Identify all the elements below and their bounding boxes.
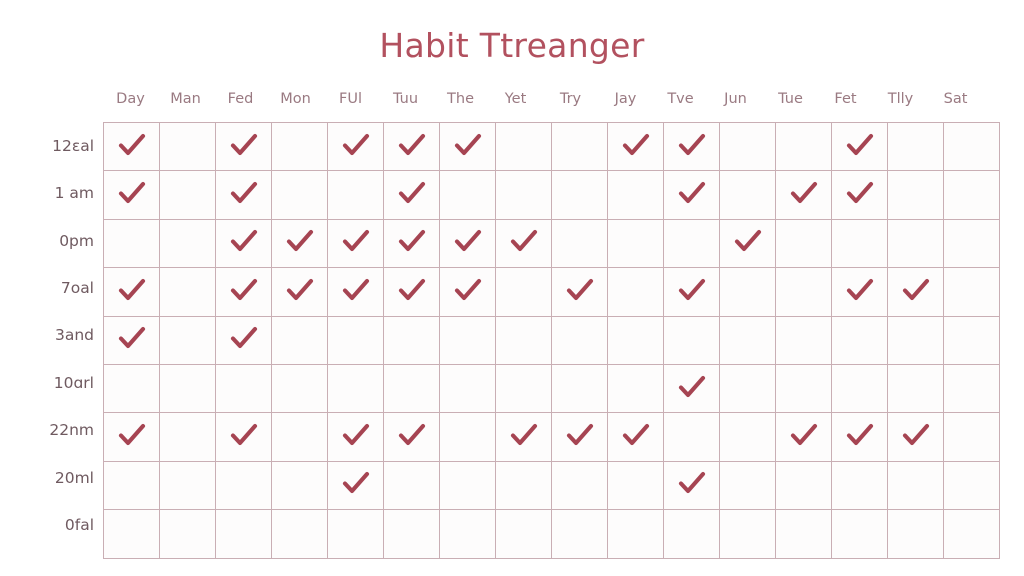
checkmark-icon xyxy=(621,132,651,158)
checkmark-icon xyxy=(117,132,147,158)
habit-cell-r7-c12[interactable] xyxy=(720,413,776,461)
checkmark-icon xyxy=(229,277,259,303)
checkmark-icon xyxy=(229,180,259,206)
habit-cell-r7-c9[interactable] xyxy=(552,413,608,461)
checkmark-icon xyxy=(733,228,763,254)
habit-cell-r7-c7[interactable] xyxy=(440,413,496,461)
habit-cell-r4-c15[interactable] xyxy=(888,268,944,316)
habit-cell-r4-c8[interactable] xyxy=(496,268,552,316)
habit-cell-r3-c7[interactable] xyxy=(440,219,496,267)
habit-cell-r3-c4[interactable] xyxy=(272,219,328,267)
habit-cell-r8-c3[interactable] xyxy=(216,461,272,509)
checkmark-icon xyxy=(901,277,931,303)
habit-cell-r8-c12[interactable] xyxy=(720,461,776,509)
checkmark-icon xyxy=(229,422,259,448)
habit-cell-r9-c11[interactable] xyxy=(664,510,720,558)
column-header-11: Tve xyxy=(653,90,708,108)
habit-cell-r8-c2[interactable] xyxy=(160,461,216,509)
habit-cell-r2-c1[interactable] xyxy=(104,171,160,219)
habit-cell-r8-c5[interactable] xyxy=(328,461,384,509)
checkmark-icon xyxy=(845,277,875,303)
checkmark-icon xyxy=(565,277,595,303)
checkmark-icon xyxy=(229,325,259,351)
checkmark-icon xyxy=(117,180,147,206)
habit-cell-r3-c13[interactable] xyxy=(776,219,832,267)
habit-cell-r9-c1[interactable] xyxy=(104,510,160,558)
habit-cell-r9-c12[interactable] xyxy=(720,510,776,558)
habit-cell-r1-c12[interactable] xyxy=(720,123,776,171)
habit-cell-r1-c9[interactable] xyxy=(552,123,608,171)
habit-cell-r9-c9[interactable] xyxy=(552,510,608,558)
habit-cell-r9-c7[interactable] xyxy=(440,510,496,558)
checkmark-icon xyxy=(397,228,427,254)
habit-cell-r3-c1[interactable] xyxy=(104,219,160,267)
habit-cell-r2-c3[interactable] xyxy=(216,171,272,219)
habit-cell-r5-c14[interactable] xyxy=(832,316,888,364)
habit-cell-r6-c12[interactable] xyxy=(720,364,776,412)
habit-cell-r3-c12[interactable] xyxy=(720,219,776,267)
column-header-3: Fed xyxy=(213,90,268,108)
habit-grid-body xyxy=(104,123,1000,559)
habit-row xyxy=(104,123,1000,171)
row-header-7: 22nm xyxy=(8,418,94,442)
habit-cell-r6-c6[interactable] xyxy=(384,364,440,412)
column-header-14: Fet xyxy=(818,90,873,108)
habit-cell-r6-c16[interactable] xyxy=(944,364,1000,412)
habit-cell-r9-c14[interactable] xyxy=(832,510,888,558)
checkmark-icon xyxy=(341,132,371,158)
habit-cell-r5-c9[interactable] xyxy=(552,316,608,364)
checkmark-icon xyxy=(285,277,315,303)
habit-row xyxy=(104,364,1000,412)
habit-cell-r1-c7[interactable] xyxy=(440,123,496,171)
checkmark-icon xyxy=(453,132,483,158)
habit-cell-r1-c16[interactable] xyxy=(944,123,1000,171)
habit-cell-r6-c8[interactable] xyxy=(496,364,552,412)
column-header-8: Yet xyxy=(488,90,543,108)
habit-cell-r8-c13[interactable] xyxy=(776,461,832,509)
habit-cell-r6-c2[interactable] xyxy=(160,364,216,412)
checkmark-icon xyxy=(677,277,707,303)
habit-cell-r2-c8[interactable] xyxy=(496,171,552,219)
habit-cell-r2-c11[interactable] xyxy=(664,171,720,219)
habit-cell-r8-c1[interactable] xyxy=(104,461,160,509)
habit-cell-r5-c8[interactable] xyxy=(496,316,552,364)
row-header-1: 12ɛal xyxy=(8,134,94,158)
habit-cell-r4-c10[interactable] xyxy=(608,268,664,316)
checkmark-icon xyxy=(341,470,371,496)
checkmark-icon xyxy=(341,228,371,254)
checkmark-icon xyxy=(845,422,875,448)
checkmark-icon xyxy=(397,180,427,206)
checkmark-icon xyxy=(285,228,315,254)
checkmark-icon xyxy=(677,374,707,400)
habit-cell-r3-c8[interactable] xyxy=(496,219,552,267)
habit-cell-r9-c2[interactable] xyxy=(160,510,216,558)
habit-cell-r3-c14[interactable] xyxy=(832,219,888,267)
habit-cell-r4-c13[interactable] xyxy=(776,268,832,316)
habit-cell-r2-c7[interactable] xyxy=(440,171,496,219)
habit-cell-r1-c11[interactable] xyxy=(664,123,720,171)
column-header-9: Try xyxy=(543,90,598,108)
habit-cell-r3-c6[interactable] xyxy=(384,219,440,267)
checkmark-icon xyxy=(677,180,707,206)
checkmark-icon xyxy=(341,277,371,303)
habit-cell-r8-c7[interactable] xyxy=(440,461,496,509)
habit-cell-r3-c10[interactable] xyxy=(608,219,664,267)
habit-cell-r6-c1[interactable] xyxy=(104,364,160,412)
habit-cell-r6-c5[interactable] xyxy=(328,364,384,412)
habit-cell-r3-c11[interactable] xyxy=(664,219,720,267)
page-title: Habit Ttreanger xyxy=(0,26,1024,65)
habit-cell-r8-c16[interactable] xyxy=(944,461,1000,509)
habit-cell-r2-c16[interactable] xyxy=(944,171,1000,219)
habit-cell-r6-c7[interactable] xyxy=(440,364,496,412)
habit-cell-r7-c6[interactable] xyxy=(384,413,440,461)
row-header-4: 7oal xyxy=(8,276,94,300)
habit-cell-r7-c8[interactable] xyxy=(496,413,552,461)
habit-cell-r7-c14[interactable] xyxy=(832,413,888,461)
habit-cell-r7-c16[interactable] xyxy=(944,413,1000,461)
habit-cell-r6-c9[interactable] xyxy=(552,364,608,412)
habit-cell-r9-c16[interactable] xyxy=(944,510,1000,558)
row-header-5: 3and xyxy=(8,323,94,347)
habit-cell-r1-c4[interactable] xyxy=(272,123,328,171)
habit-cell-r2-c14[interactable] xyxy=(832,171,888,219)
column-header-1: Day xyxy=(103,90,158,108)
habit-cell-r9-c13[interactable] xyxy=(776,510,832,558)
habit-cell-r5-c12[interactable] xyxy=(720,316,776,364)
checkmark-icon xyxy=(117,277,147,303)
habit-cell-r6-c10[interactable] xyxy=(608,364,664,412)
habit-row xyxy=(104,219,1000,267)
habit-cell-r8-c6[interactable] xyxy=(384,461,440,509)
habit-cell-r5-c11[interactable] xyxy=(664,316,720,364)
habit-cell-r9-c8[interactable] xyxy=(496,510,552,558)
habit-cell-r6-c3[interactable] xyxy=(216,364,272,412)
habit-cell-r3-c16[interactable] xyxy=(944,219,1000,267)
habit-grid[interactable] xyxy=(103,122,983,549)
habit-cell-r2-c10[interactable] xyxy=(608,171,664,219)
habit-cell-r6-c13[interactable] xyxy=(776,364,832,412)
checkmark-icon xyxy=(509,422,539,448)
habit-cell-r4-c14[interactable] xyxy=(832,268,888,316)
habit-row xyxy=(104,510,1000,558)
column-header-2: Man xyxy=(158,90,213,108)
checkmark-icon xyxy=(397,422,427,448)
checkmark-icon xyxy=(117,422,147,448)
habit-cell-r2-c13[interactable] xyxy=(776,171,832,219)
habit-cell-r8-c14[interactable] xyxy=(832,461,888,509)
checkmark-icon xyxy=(509,228,539,254)
checkmark-icon xyxy=(621,422,651,448)
habit-cell-r5-c15[interactable] xyxy=(888,316,944,364)
habit-cell-r4-c12[interactable] xyxy=(720,268,776,316)
habit-cell-r8-c11[interactable] xyxy=(664,461,720,509)
checkmark-icon xyxy=(677,132,707,158)
habit-cell-r4-c7[interactable] xyxy=(440,268,496,316)
row-header-8: 20ml xyxy=(8,466,94,490)
habit-cell-r5-c1[interactable] xyxy=(104,316,160,364)
habit-cell-r1-c6[interactable] xyxy=(384,123,440,171)
habit-cell-r1-c1[interactable] xyxy=(104,123,160,171)
habit-row xyxy=(104,171,1000,219)
column-header-10: Jay xyxy=(598,90,653,108)
checkmark-icon xyxy=(565,422,595,448)
checkmark-icon xyxy=(789,422,819,448)
checkmark-icon xyxy=(229,228,259,254)
checkmark-icon xyxy=(117,325,147,351)
checkmark-icon xyxy=(901,422,931,448)
habit-cell-r2-c5[interactable] xyxy=(328,171,384,219)
habit-cell-r4-c6[interactable] xyxy=(384,268,440,316)
habit-cell-r3-c9[interactable] xyxy=(552,219,608,267)
habit-cell-r8-c9[interactable] xyxy=(552,461,608,509)
habit-cell-r4-c9[interactable] xyxy=(552,268,608,316)
row-header-6: 10ɑrl xyxy=(8,371,94,395)
habit-cell-r8-c10[interactable] xyxy=(608,461,664,509)
habit-cell-r2-c4[interactable] xyxy=(272,171,328,219)
habit-cell-r7-c4[interactable] xyxy=(272,413,328,461)
habit-cell-r4-c16[interactable] xyxy=(944,268,1000,316)
habit-cell-r6-c15[interactable] xyxy=(888,364,944,412)
row-header-3: 0pm xyxy=(8,229,94,253)
checkmark-icon xyxy=(397,132,427,158)
habit-cell-r2-c2[interactable] xyxy=(160,171,216,219)
habit-cell-r7-c1[interactable] xyxy=(104,413,160,461)
habit-cell-r1-c3[interactable] xyxy=(216,123,272,171)
habit-cell-r2-c12[interactable] xyxy=(720,171,776,219)
habit-cell-r2-c9[interactable] xyxy=(552,171,608,219)
habit-cell-r5-c16[interactable] xyxy=(944,316,1000,364)
habit-cell-r1-c10[interactable] xyxy=(608,123,664,171)
habit-cell-r7-c5[interactable] xyxy=(328,413,384,461)
checkmark-icon xyxy=(845,132,875,158)
habit-cell-r9-c10[interactable] xyxy=(608,510,664,558)
habit-cell-r1-c5[interactable] xyxy=(328,123,384,171)
habit-cell-r4-c2[interactable] xyxy=(160,268,216,316)
column-header-4: Mon xyxy=(268,90,323,108)
habit-row xyxy=(104,316,1000,364)
habit-cell-r7-c10[interactable] xyxy=(608,413,664,461)
checkmark-icon xyxy=(397,277,427,303)
habit-cell-r5-c3[interactable] xyxy=(216,316,272,364)
habit-cell-r7-c13[interactable] xyxy=(776,413,832,461)
habit-cell-r5-c4[interactable] xyxy=(272,316,328,364)
column-header-15: Tlly xyxy=(873,90,928,108)
habit-cell-r4-c1[interactable] xyxy=(104,268,160,316)
habit-tracker-page: Habit Ttreanger DayManFedMonFUlTuuTheYet… xyxy=(0,0,1024,576)
habit-cell-r1-c2[interactable] xyxy=(160,123,216,171)
habit-grid-table xyxy=(103,122,1000,559)
habit-cell-r5-c10[interactable] xyxy=(608,316,664,364)
habit-cell-r1-c13[interactable] xyxy=(776,123,832,171)
habit-cell-r1-c14[interactable] xyxy=(832,123,888,171)
row-header-9: 0fal xyxy=(8,513,94,537)
habit-cell-r4-c4[interactable] xyxy=(272,268,328,316)
row-header-2: 1 am xyxy=(8,181,94,205)
habit-cell-r2-c15[interactable] xyxy=(888,171,944,219)
habit-cell-r9-c4[interactable] xyxy=(272,510,328,558)
habit-cell-r5-c5[interactable] xyxy=(328,316,384,364)
checkmark-icon xyxy=(845,180,875,206)
habit-row xyxy=(104,461,1000,509)
habit-cell-r9-c5[interactable] xyxy=(328,510,384,558)
habit-cell-r4-c5[interactable] xyxy=(328,268,384,316)
habit-cell-r7-c11[interactable] xyxy=(664,413,720,461)
habit-cell-r6-c4[interactable] xyxy=(272,364,328,412)
column-header-13: Tue xyxy=(763,90,818,108)
habit-cell-r9-c3[interactable] xyxy=(216,510,272,558)
habit-cell-r7-c15[interactable] xyxy=(888,413,944,461)
checkmark-icon xyxy=(677,470,707,496)
checkmark-icon xyxy=(453,277,483,303)
habit-cell-r4-c3[interactable] xyxy=(216,268,272,316)
habit-cell-r3-c15[interactable] xyxy=(888,219,944,267)
habit-cell-r3-c5[interactable] xyxy=(328,219,384,267)
habit-cell-r9-c15[interactable] xyxy=(888,510,944,558)
habit-cell-r7-c3[interactable] xyxy=(216,413,272,461)
habit-cell-r1-c8[interactable] xyxy=(496,123,552,171)
habit-row xyxy=(104,413,1000,461)
checkmark-icon xyxy=(341,422,371,448)
habit-cell-r8-c4[interactable] xyxy=(272,461,328,509)
column-header-6: Tuu xyxy=(378,90,433,108)
checkmark-icon xyxy=(789,180,819,206)
habit-cell-r6-c11[interactable] xyxy=(664,364,720,412)
habit-cell-r1-c15[interactable] xyxy=(888,123,944,171)
habit-cell-r4-c11[interactable] xyxy=(664,268,720,316)
habit-row xyxy=(104,268,1000,316)
checkmark-icon xyxy=(453,228,483,254)
habit-cell-r7-c2[interactable] xyxy=(160,413,216,461)
checkmark-icon xyxy=(229,132,259,158)
column-header-5: FUl xyxy=(323,90,378,108)
habit-cell-r9-c6[interactable] xyxy=(384,510,440,558)
habit-cell-r3-c3[interactable] xyxy=(216,219,272,267)
habit-cell-r6-c14[interactable] xyxy=(832,364,888,412)
habit-cell-r5-c2[interactable] xyxy=(160,316,216,364)
habit-cell-r3-c2[interactable] xyxy=(160,219,216,267)
column-header-12: Jun xyxy=(708,90,763,108)
column-header-16: Sat xyxy=(928,90,983,108)
column-header-7: The xyxy=(433,90,488,108)
habit-cell-r8-c8[interactable] xyxy=(496,461,552,509)
habit-cell-r5-c7[interactable] xyxy=(440,316,496,364)
habit-cell-r8-c15[interactable] xyxy=(888,461,944,509)
habit-cell-r5-c13[interactable] xyxy=(776,316,832,364)
habit-cell-r5-c6[interactable] xyxy=(384,316,440,364)
habit-cell-r2-c6[interactable] xyxy=(384,171,440,219)
